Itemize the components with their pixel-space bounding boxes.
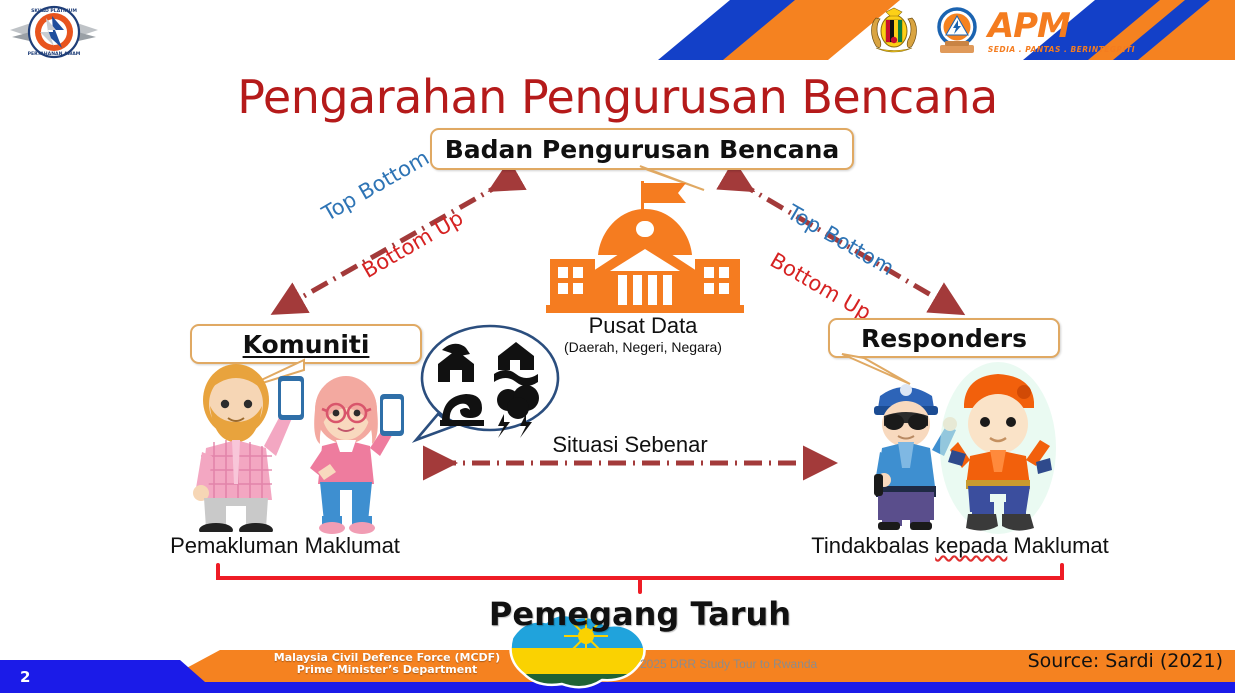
- footer-org-text: Malaysia Civil Defence Force (MCDF) Prim…: [272, 652, 502, 676]
- pusat-data-label: Pusat Data: [528, 313, 758, 339]
- source-citation: Source: Sardi (2021): [1028, 650, 1223, 672]
- tindak-part1: Tindakbalas: [811, 533, 935, 558]
- community-woman-with-phone: [300, 372, 410, 534]
- rescue-worker-responder: [940, 362, 1060, 534]
- situasi-sebenar-label: Situasi Sebenar: [425, 432, 835, 458]
- pemegang-taruh-label: Pemegang Taruh: [380, 595, 900, 633]
- hazard-speech-bubble: [412, 322, 562, 442]
- footer-event-text: 2025 DRR Study Tour to Rwanda: [640, 657, 817, 671]
- komuniti-box-label: Komuniti: [243, 330, 370, 359]
- stakeholder-bracket: [218, 565, 1062, 592]
- footer-org-line2: Prime Minister’s Department: [272, 664, 502, 676]
- pemakluman-maklumat-caption: Pemakluman Maklumat: [130, 533, 440, 559]
- tindak-misspelled-word: kepada: [935, 533, 1007, 558]
- government-building-icon: [540, 175, 750, 315]
- badan-box-label: Badan Pengurusan Bencana: [445, 135, 840, 164]
- tindakbalas-maklumat-caption: Tindakbalas kepada Maklumat: [770, 533, 1150, 559]
- responders-box-label: Responders: [861, 324, 1027, 353]
- tindak-part2: Maklumat: [1007, 533, 1108, 558]
- community-man-with-phone: [188, 360, 318, 532]
- pusat-data-sublabel: (Daerah, Negeri, Negara): [528, 339, 758, 355]
- page-number: 2: [20, 668, 30, 686]
